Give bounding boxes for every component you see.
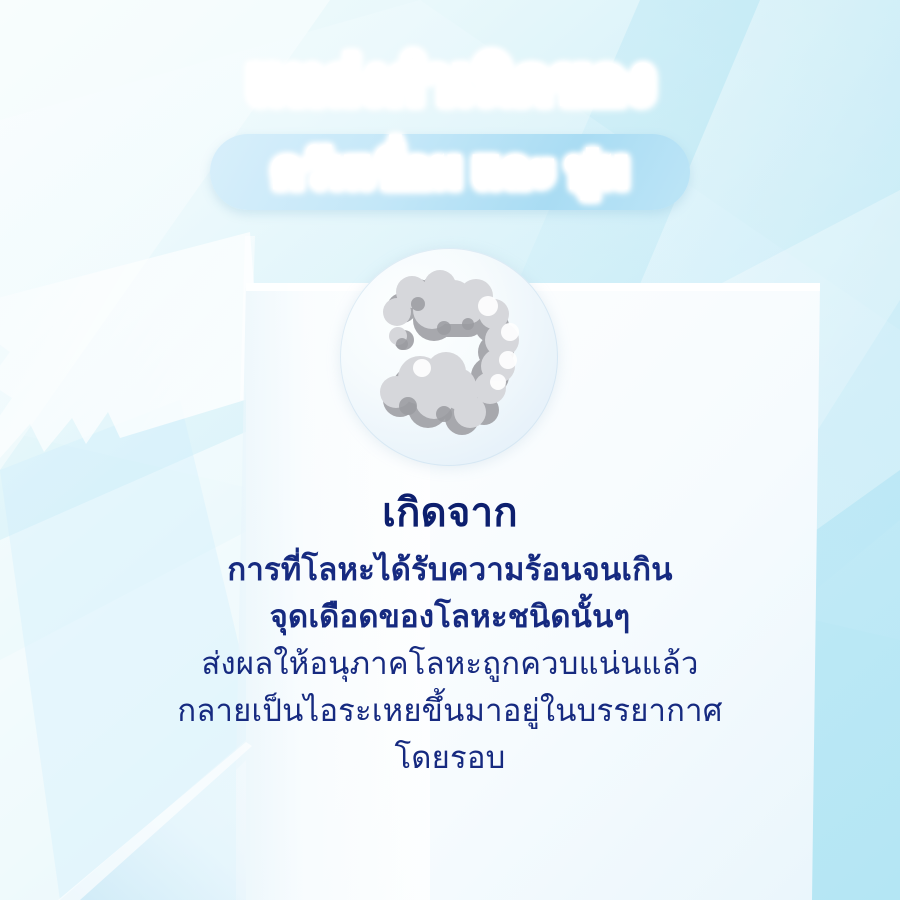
body-line-1: การที่โลหะได้รับความร้อนจนเกิน	[100, 546, 800, 593]
poster-title-group: แหล่งกำเนิดของ แหล่งกำเนิดของ	[0, 52, 900, 112]
body-copy: เกิดจาก การที่โลหะได้รับความร้อนจนเกิน จ…	[100, 486, 800, 782]
body-line-2: จุดเดือดของโลหะชนิดนั้นๆ	[100, 593, 800, 640]
body-heading: เกิดจาก	[100, 486, 800, 540]
page-title: แหล่งกำเนิดของ แหล่งกำเนิดของ	[247, 52, 653, 112]
smoke-fume-cloud-icon	[340, 248, 558, 466]
body-line-4: กลายเป็นไอระเหยขึ้นมาอยู่ในบรรยากาศ	[100, 687, 800, 734]
subtitle-pill: ควันเชื่อม และ ฟูม ควันเชื่อม และ ฟูม	[272, 140, 627, 199]
body-line-5: โดยรอบ	[100, 734, 800, 781]
subtitle-pill-text: ควันเชื่อม และ ฟูม	[272, 145, 627, 194]
poster-canvas: แหล่งกำเนิดของ แหล่งกำเนิดของ ควันเชื่อม…	[0, 0, 900, 900]
body-line-3: ส่งผลให้อนุภาคโลหะถูกควบแน่นแล้ว	[100, 640, 800, 687]
subtitle-pill-group: ควันเชื่อม และ ฟูม ควันเชื่อม และ ฟูม	[0, 140, 900, 199]
page-title-text: แหล่งกำเนิดของ	[247, 49, 653, 113]
